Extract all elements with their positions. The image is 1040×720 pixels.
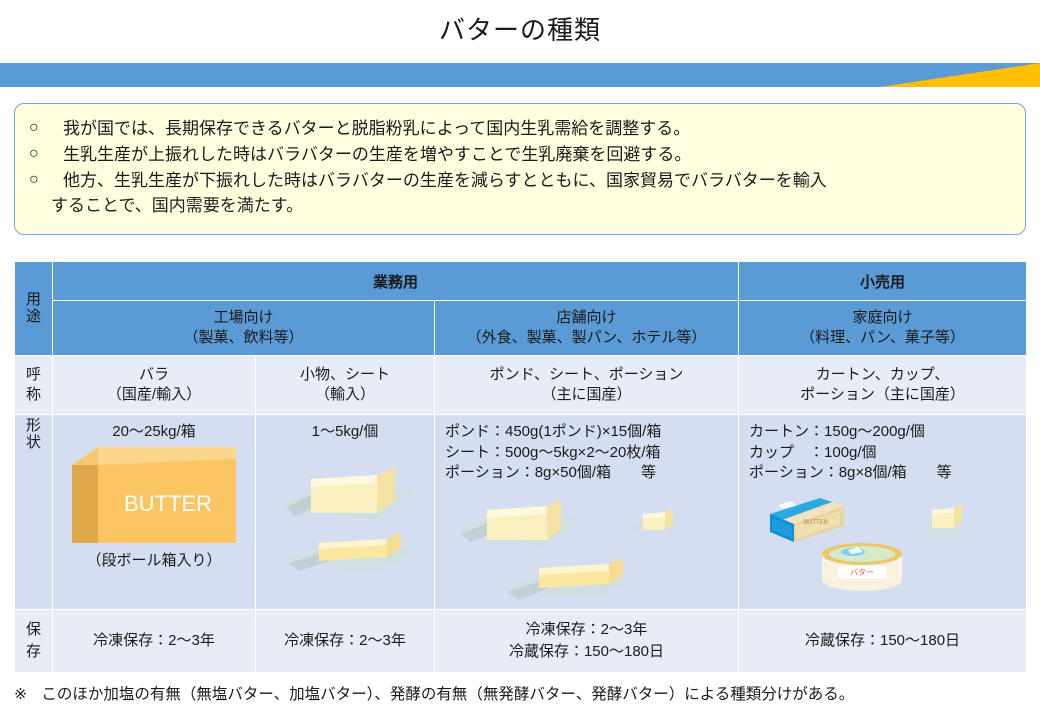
page-title: バターの種類	[0, 10, 1040, 47]
row-label-storage-char2: 存	[19, 641, 48, 663]
cell-shape-retail-line1: カートン：150g〜200g/個	[749, 422, 1022, 443]
cell-shape-bulk: 20〜25kg/箱 BUTTER （段ボール箱入り）	[53, 415, 256, 610]
bullet-item: ○ 我が国では、長期保存できるバターと脱脂粉乳によって国内生乳需給を調整する。	[29, 116, 1011, 142]
cell-shape-store-lines: ポンド：450g(1ポンド)×15個/箱 シート：500g〜5kg×2〜20枚/…	[439, 418, 734, 484]
bullet-text: 他方、生乳生産が下振れした時はバラバターの生産を減らすとともに、国家貿易でバラバ…	[63, 168, 1011, 194]
cell-shape-retail-line3: ポーション：8g×8個/箱 等	[749, 463, 1022, 484]
bullet-text: 我が国では、長期保存できるバターと脱脂粉乳によって国内生乳需給を調整する。	[63, 116, 1011, 142]
header-banner	[0, 63, 1040, 87]
cell-name-bulk-line1: バラ	[57, 365, 251, 385]
cell-storage-store: 冷凍保存：2〜3年 冷蔵保存：150〜180日	[435, 610, 739, 673]
cell-name-bulk-line2: （国産/輸入）	[57, 385, 251, 405]
butter-pound-sheet-portion-icon	[447, 484, 727, 604]
summary-callout-box: ○ 我が国では、長期保存できるバターと脱脂粉乳によって国内生乳需給を調整する。 …	[14, 103, 1026, 235]
cell-storage-retail: 冷蔵保存：150〜180日	[739, 610, 1027, 673]
cell-shape-retail-lines: カートン：150g〜200g/個 カップ ：100g/個 ポーション：8g×8個…	[743, 418, 1022, 484]
bullet-marker-icon: ○	[29, 168, 63, 192]
cell-shape-retail: カートン：150g〜200g/個 カップ ：100g/個 ポーション：8g×8個…	[739, 415, 1027, 610]
cell-storage-bulk: 冷凍保存：2〜3年	[53, 610, 256, 673]
cell-shape-small: 1〜5kg/個	[256, 415, 435, 610]
footnote-text: このほか加塩の有無（無塩バター、加塩バター）、発酵の有無（無発酵バター、発酵バタ…	[41, 686, 854, 703]
cell-name-retail: カートン、カップ、 ポーション（主に国産）	[739, 356, 1027, 415]
row-label-name-char1: 呼	[19, 365, 48, 385]
cell-shape-bulk-caption: （段ボール箱入り）	[57, 549, 251, 570]
row-label-use-char2: 途	[19, 309, 48, 326]
cell-storage-bulk-line1: 冷凍保存：2〜3年	[57, 630, 251, 652]
subheader-factory: 工場向け （製菓、飲料等）	[53, 301, 435, 356]
subheader-store: 店舗向け （外食、製菓、製パン、ホテル等）	[435, 301, 739, 356]
cell-name-retail-line1: カートン、カップ、	[743, 365, 1022, 385]
cell-shape-store-line3: ポーション：8g×50個/箱 等	[445, 463, 734, 484]
row-label-name: 呼 称	[15, 356, 53, 415]
subheader-home: 家庭向け （料理、パン、菓子等）	[739, 301, 1027, 356]
cell-name-small-line1: 小物、シート	[260, 365, 430, 385]
row-label-use: 用 途	[15, 262, 53, 356]
cell-name-retail-line2: ポーション（主に国産）	[743, 385, 1022, 405]
bullet-marker-icon: ○	[29, 116, 63, 140]
butter-block-sheet-icon	[265, 443, 425, 593]
retail-cup-label: バター	[850, 568, 874, 577]
row-label-name-char2: 称	[19, 385, 48, 405]
bullet-text: 生乳生産が上振れした時はバラバターの生産を増やすことで生乳廃棄を回避する。	[63, 142, 1011, 168]
cell-name-store: ポンド、シート、ポーション （主に国産）	[435, 356, 739, 415]
cell-name-small-line2: （輸入）	[260, 385, 430, 405]
header-commercial-use: 業務用	[53, 262, 739, 301]
row-label-use-char1: 用	[19, 292, 48, 309]
bullet-item: ○ 他方、生乳生産が下振れした時はバラバターの生産を減らすとともに、国家貿易でバ…	[29, 168, 1011, 194]
bullet-marker-icon: ○	[29, 142, 63, 166]
cell-shape-store: ポンド：450g(1ポンド)×15個/箱 シート：500g〜5kg×2〜20枚/…	[435, 415, 739, 610]
row-label-shape-char2: 状	[19, 435, 48, 452]
bullet-continuation-text: することで、国内需要を満たす。	[29, 193, 1011, 219]
row-label-shape-char1: 形	[19, 418, 48, 435]
row-label-shape: 形 状	[15, 415, 53, 610]
table-row-shape: 形 状 20〜25kg/箱 BUTTER （段ボール箱入り）	[15, 415, 1027, 610]
table-row-name: 呼 称 バラ （国産/輸入） 小物、シート （輸入） ポンド、シート、ポーション…	[15, 356, 1027, 415]
header-retail-use: 小売用	[739, 262, 1027, 301]
subheader-store-line2: （外食、製菓、製パン、ホテル等）	[439, 328, 734, 348]
cell-name-store-line2: （主に国産）	[439, 385, 734, 405]
cell-storage-retail-line1: 冷蔵保存：150〜180日	[743, 630, 1022, 652]
table-header-row-top: 用 途 業務用 小売用	[15, 262, 1027, 301]
butter-box-label: BUTTER	[124, 491, 212, 516]
cell-storage-small-line1: 冷凍保存：2〜3年	[260, 630, 430, 652]
subheader-store-line1: 店舗向け	[439, 308, 734, 328]
cell-name-bulk: バラ （国産/輸入）	[53, 356, 256, 415]
footnote: ※ このほか加塩の有無（無塩バター、加塩バター）、発酵の有無（無発酵バター、発酵…	[14, 682, 1029, 704]
cell-name-small: 小物、シート （輸入）	[256, 356, 435, 415]
subheader-factory-line2: （製菓、飲料等）	[57, 328, 430, 348]
table-header-row-sub: 工場向け （製菓、飲料等） 店舗向け （外食、製菓、製パン、ホテル等） 家庭向け…	[15, 301, 1027, 356]
cell-shape-bulk-heading: 20〜25kg/箱	[57, 418, 251, 443]
cell-shape-store-line2: シート：500g〜5kg×2〜20枚/箱	[445, 443, 734, 464]
banner-wedge-icon	[880, 63, 1040, 87]
cell-storage-store-line1: 冷凍保存：2〜3年	[439, 619, 734, 641]
butter-types-table: 用 途 業務用 小売用 工場向け （製菓、飲料等） 店舗向け （外食、製菓、製パ…	[14, 261, 1027, 673]
cell-storage-small: 冷凍保存：2〜3年	[256, 610, 435, 673]
subheader-factory-line1: 工場向け	[57, 308, 430, 328]
cell-shape-small-heading: 1〜5kg/個	[260, 418, 430, 443]
butter-retail-pack-icon: BUTTER	[748, 484, 1018, 594]
subheader-home-line1: 家庭向け	[743, 308, 1022, 328]
bullet-item: ○ 生乳生産が上振れした時はバラバターの生産を増やすことで生乳廃棄を回避する。	[29, 142, 1011, 168]
retail-carton-label: BUTTER	[804, 520, 829, 526]
footnote-marker-icon: ※	[14, 686, 27, 703]
cell-shape-retail-line2: カップ ：100g/個	[749, 443, 1022, 464]
row-label-storage: 保 存	[15, 610, 53, 673]
cell-storage-store-line2: 冷蔵保存：150〜180日	[439, 641, 734, 663]
butter-carton-box-icon: BUTTER	[68, 443, 240, 549]
cell-name-store-line1: ポンド、シート、ポーション	[439, 365, 734, 385]
cell-shape-store-line1: ポンド：450g(1ポンド)×15個/箱	[445, 422, 734, 443]
table-row-storage: 保 存 冷凍保存：2〜3年 冷凍保存：2〜3年 冷凍保存：2〜3年 冷蔵保存：1…	[15, 610, 1027, 673]
subheader-home-line2: （料理、パン、菓子等）	[743, 328, 1022, 348]
row-label-storage-char1: 保	[19, 619, 48, 641]
